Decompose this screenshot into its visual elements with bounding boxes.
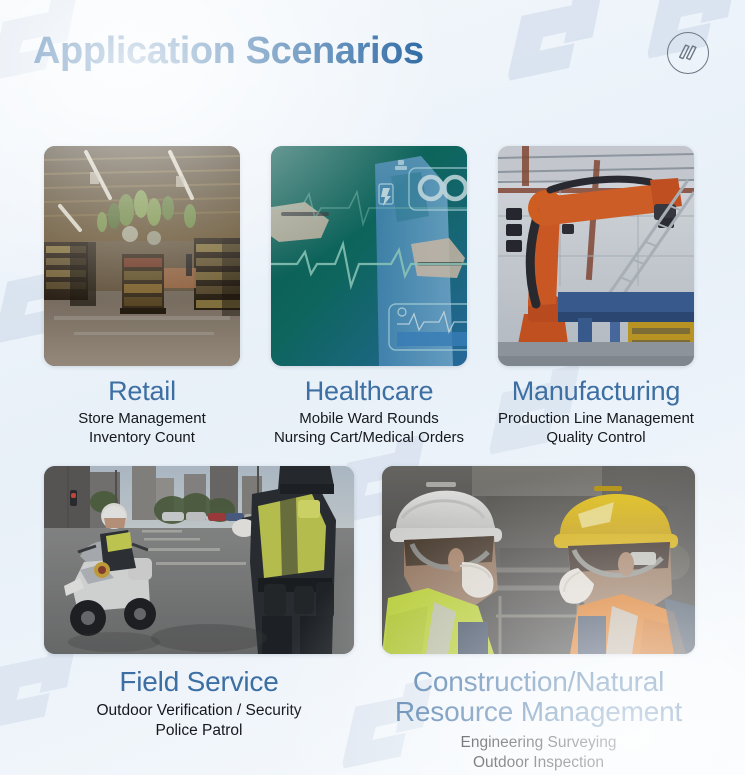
- card-line: Nursing Cart/Medical Orders: [274, 428, 464, 447]
- construction-workers-hardhats-photo: [382, 466, 695, 654]
- card-line: Mobile Ward Rounds: [274, 409, 464, 428]
- scenario-card-construction[interactable]: Construction/Natural Resource Management…: [382, 466, 695, 773]
- card-title: Healthcare: [305, 377, 434, 406]
- card-line: Inventory Count: [78, 428, 206, 447]
- card-line: Engineering Surveying: [461, 733, 617, 753]
- card-description: Mobile Ward Rounds Nursing Cart/Medical …: [274, 409, 464, 447]
- scenario-card-manufacturing[interactable]: Manufacturing Production Line Management…: [498, 146, 694, 447]
- slide-header: Application Scenarios: [0, 0, 745, 110]
- slide-canvas: Application Scenarios: [0, 0, 745, 775]
- card-title: Manufacturing: [512, 377, 681, 406]
- card-line: Police Patrol: [96, 721, 301, 741]
- card-line: Outdoor Verification / Security: [96, 701, 301, 721]
- scenario-row-top: Retail Store Management Inventory Count: [44, 146, 694, 447]
- retail-store-interior-photo: [44, 146, 240, 366]
- overlapping-cards-logo-icon: [675, 40, 701, 66]
- card-title: Field Service: [119, 667, 278, 697]
- manufacturing-robot-arm-photo: [498, 146, 694, 366]
- card-description: Engineering Surveying Outdoor Inspection: [461, 733, 617, 773]
- scenario-row-bottom: Field Service Outdoor Verification / Sec…: [44, 466, 694, 773]
- card-description: Outdoor Verification / Security Police P…: [96, 701, 301, 741]
- scenario-card-retail[interactable]: Retail Store Management Inventory Count: [44, 146, 240, 447]
- brand-logo-badge: [667, 32, 709, 74]
- card-line: Production Line Management: [498, 409, 694, 428]
- card-line: Store Management: [78, 409, 206, 428]
- scenario-card-healthcare[interactable]: Healthcare Mobile Ward Rounds Nursing Ca…: [271, 146, 467, 447]
- card-description: Store Management Inventory Count: [78, 409, 206, 447]
- traffic-police-patrol-photo: [44, 466, 354, 654]
- card-title: Construction/Natural Resource Management: [382, 667, 695, 727]
- scenario-card-field-service[interactable]: Field Service Outdoor Verification / Sec…: [44, 466, 354, 773]
- card-description: Production Line Management Quality Contr…: [498, 409, 694, 447]
- page-title: Application Scenarios: [33, 30, 424, 73]
- healthcare-ecg-overlay-photo: [271, 146, 467, 366]
- card-line: Quality Control: [498, 428, 694, 447]
- card-title: Retail: [108, 377, 176, 406]
- card-line: Outdoor Inspection: [461, 753, 617, 773]
